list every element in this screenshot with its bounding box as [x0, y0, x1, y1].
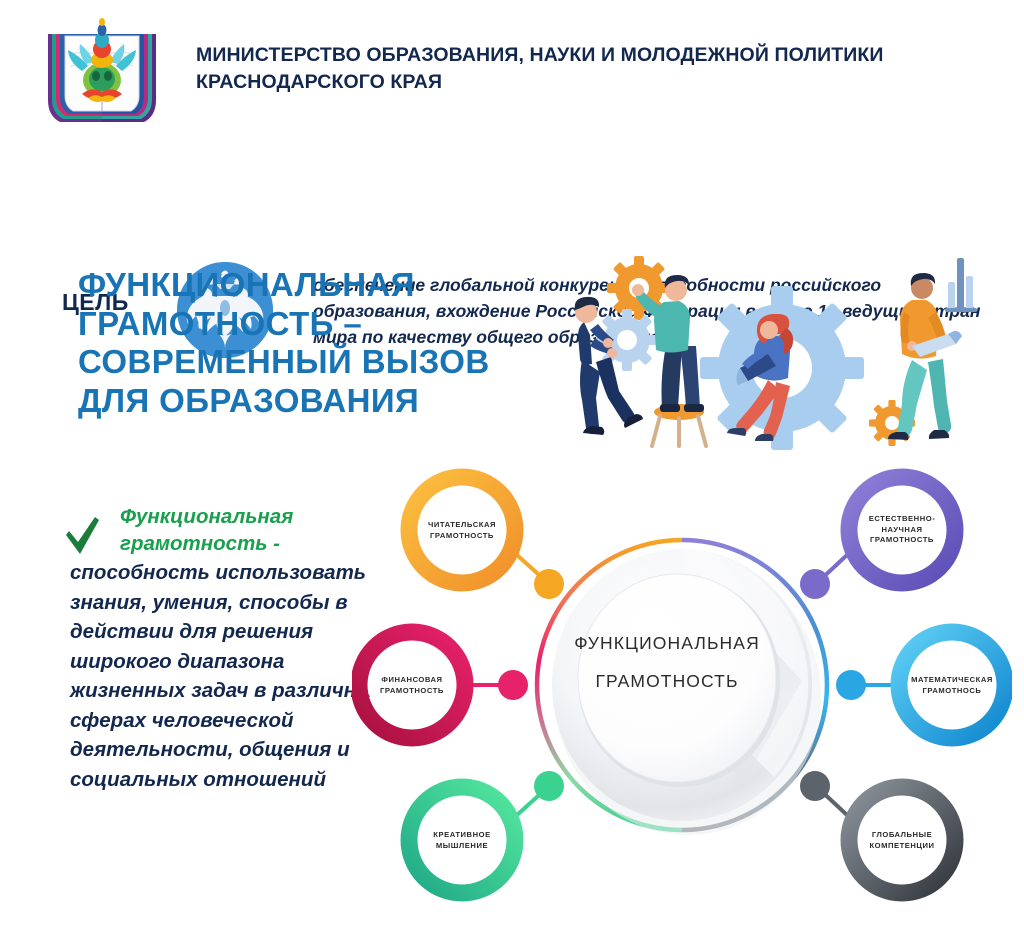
definition-block: Функциональная грамотность - способность…	[62, 503, 382, 794]
page-title-line2: ГРАМОТНОСТЬ –	[78, 305, 548, 344]
teamwork-gears-illustration	[560, 250, 1012, 450]
goal-section: ЦЕЛЬ	[0, 126, 1024, 236]
bubble-math[interactable]	[899, 632, 1005, 738]
definition-lead: Функциональная грамотность -	[120, 503, 382, 557]
bubble-finance[interactable]	[359, 632, 465, 738]
kuban-education-emblem-icon	[38, 16, 166, 126]
node-dot-finance	[498, 670, 528, 700]
node-dot-science	[800, 569, 830, 599]
central-disc	[552, 549, 821, 835]
bubble-global[interactable]	[849, 787, 955, 893]
page-title-line4: ДЛЯ ОБРАЗОВАНИЯ	[78, 382, 548, 421]
page-header: МИНИСТЕРСТВО ОБРАЗОВАНИЯ, НАУКИ И МОЛОДЕ…	[0, 0, 1024, 120]
infographic-page: МИНИСТЕРСТВО ОБРАЗОВАНИЯ, НАУКИ И МОЛОДЕ…	[0, 0, 1024, 925]
bubble-creative[interactable]	[409, 787, 515, 893]
node-dot-math	[836, 670, 866, 700]
page-title-line3: СОВРЕМЕННЫЙ ВЫЗОВ	[78, 343, 548, 382]
bubble-reading[interactable]	[409, 477, 515, 583]
diagram-svg	[352, 440, 1012, 920]
ministry-title-line1: МИНИСТЕРСТВО ОБРАЗОВАНИЯ, НАУКИ И МОЛОДЕ…	[196, 44, 884, 66]
page-title: ФУНКЦИОНАЛЬНАЯ ГРАМОТНОСТЬ – СОВРЕМЕННЫЙ…	[78, 266, 548, 420]
node-dot-reading	[534, 569, 564, 599]
definition-body: способность использовать знания, умения,…	[70, 558, 388, 794]
green-check-icon	[62, 515, 102, 557]
functional-literacy-diagram: ФУНКЦИОНАЛЬНАЯ ГРАМОТНОСТЬ ЧИТАТЕЛЬСКАЯ …	[352, 440, 1012, 920]
node-dot-creative	[534, 771, 564, 801]
node-dot-global	[800, 771, 830, 801]
page-title-line1: ФУНКЦИОНАЛЬНАЯ	[78, 266, 548, 305]
bar-chart-decor	[945, 258, 977, 312]
ministry-title-line2: КРАСНОДАРСКОГО КРАЯ	[196, 69, 986, 96]
ministry-title: МИНИСТЕРСТВО ОБРАЗОВАНИЯ, НАУКИ И МОЛОДЕ…	[196, 42, 986, 96]
bubble-science[interactable]	[849, 477, 955, 583]
